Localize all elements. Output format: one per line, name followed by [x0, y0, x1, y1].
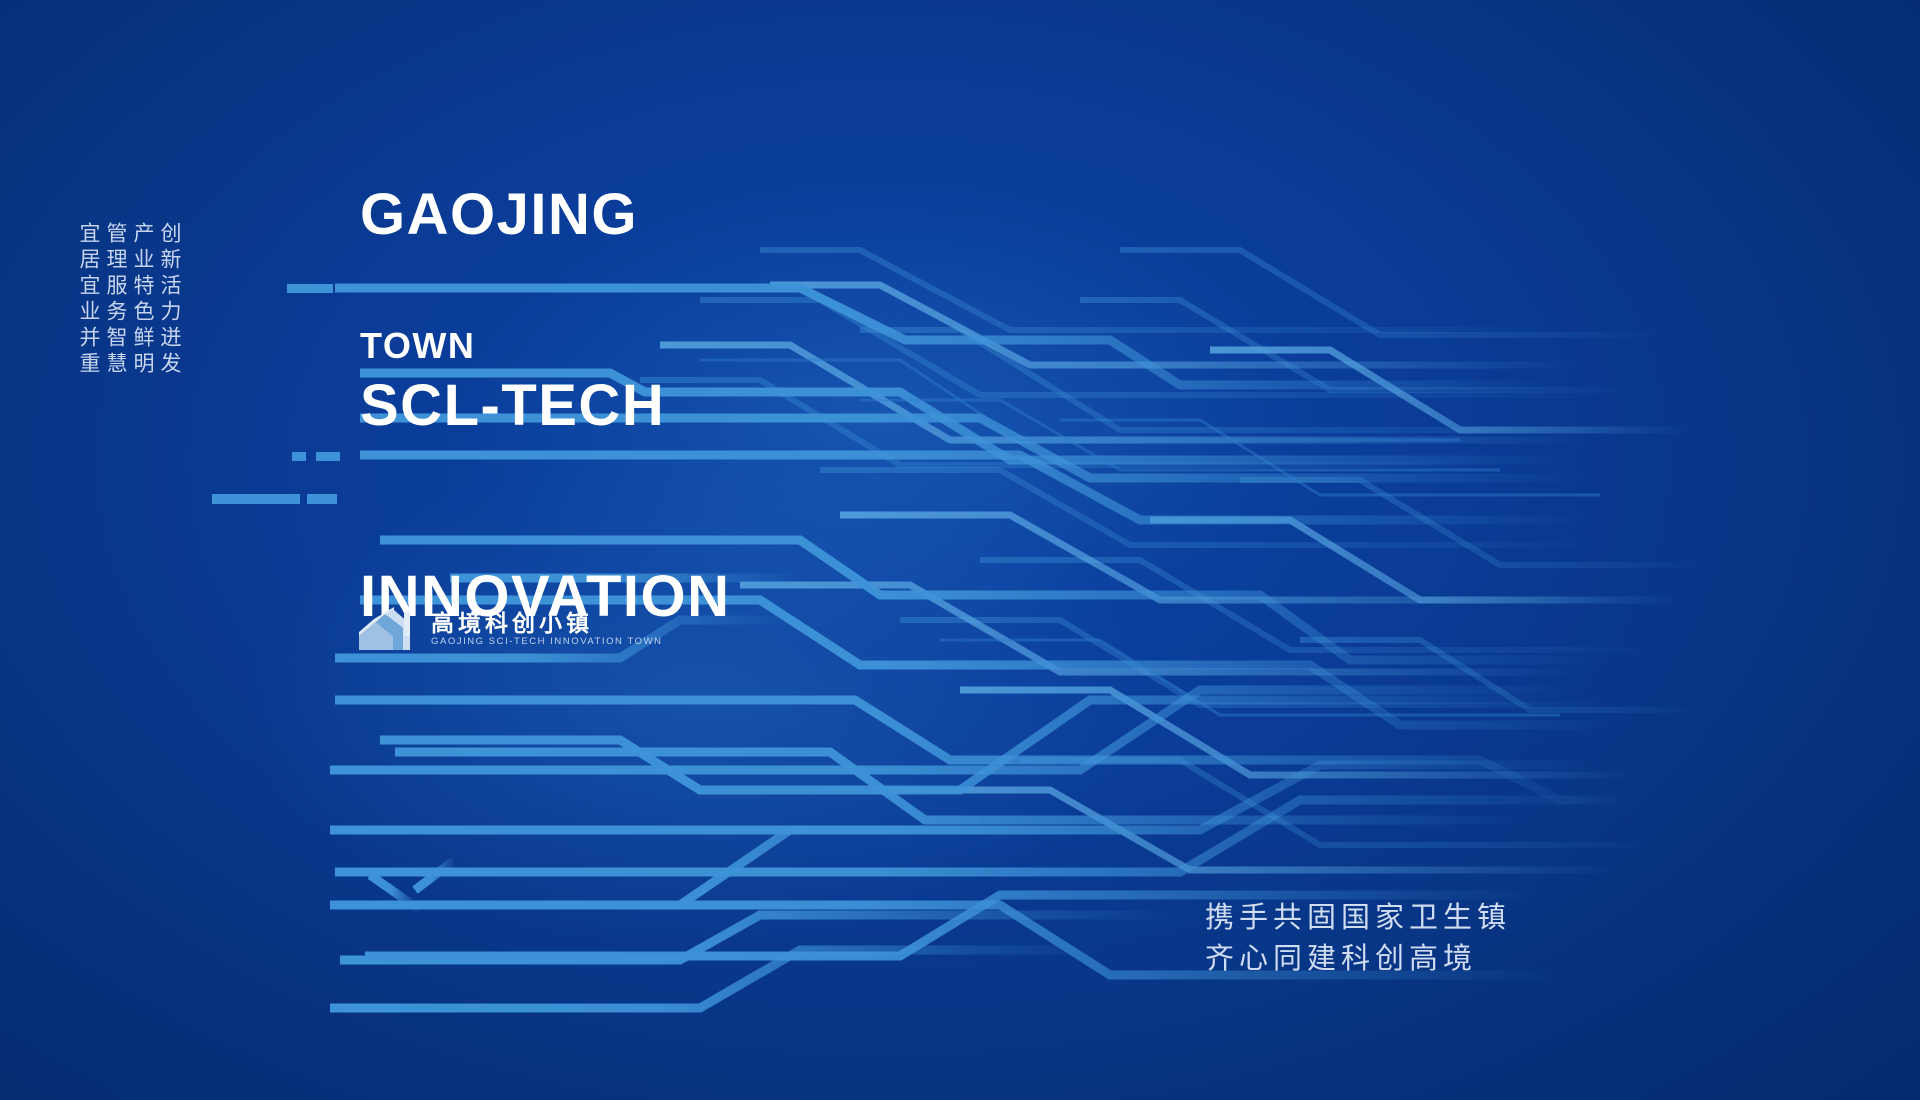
circuit-background-art: [0, 0, 1920, 1100]
logo-text-block: 高境科创小镇 GAOJING SCI-TECH INNOVATION TOWN: [431, 612, 663, 647]
bottom-slogan-line-1: 携手共固国家卫生镇: [1205, 898, 1511, 939]
circuit-dash-markers: [212, 284, 340, 504]
title-line-2: SCL-TECH: [360, 374, 731, 438]
logo-english-name: GAOJING SCI-TECH INNOVATION TOWN: [431, 637, 663, 647]
bottom-slogan: 携手共固国家卫生镇 齐心同建科创高境: [1205, 898, 1511, 980]
title-line-4: TOWN: [360, 325, 475, 367]
poster-canvas: GAOJING SCL-TECH INNOVATION TOWN 创新活力迸发 …: [0, 0, 1920, 1100]
logo-chinese-name: 高境科创小镇: [431, 612, 663, 635]
vertical-slogan-col-2: 产业特色鲜明: [132, 222, 153, 378]
title-line-1: GAOJING: [360, 183, 731, 247]
vertical-slogan: 创新活力迸发 产业特色鲜明 管理服务智慧 宜居宜业并重: [78, 222, 180, 378]
house-building-icon: [357, 606, 419, 652]
vertical-slogan-col-3: 管理服务智慧: [105, 222, 126, 378]
logo-lockup: 高境科创小镇 GAOJING SCI-TECH INNOVATION TOWN: [357, 606, 663, 652]
bottom-slogan-line-2: 齐心同建科创高境: [1205, 939, 1511, 980]
vertical-slogan-col-4: 宜居宜业并重: [78, 222, 99, 378]
vertical-slogan-col-1: 创新活力迸发: [159, 222, 180, 378]
